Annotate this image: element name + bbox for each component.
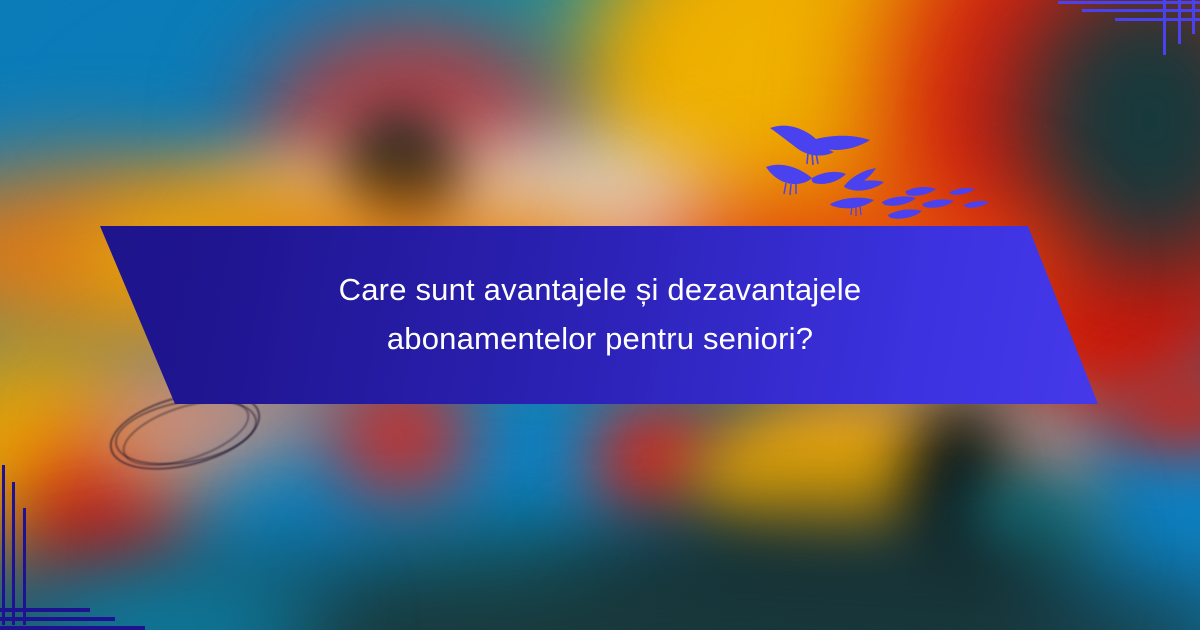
share-card: Care sunt avantajele și dezavantajele ab… [0,0,1200,630]
flying-birds-flock-icon [760,112,1015,232]
question-banner: Care sunt avantajele și dezavantajele ab… [0,226,1200,404]
corner-lines-top-right [1055,0,1200,60]
banner-shape [0,226,1200,404]
corner-lines-bottom-left [0,460,145,630]
